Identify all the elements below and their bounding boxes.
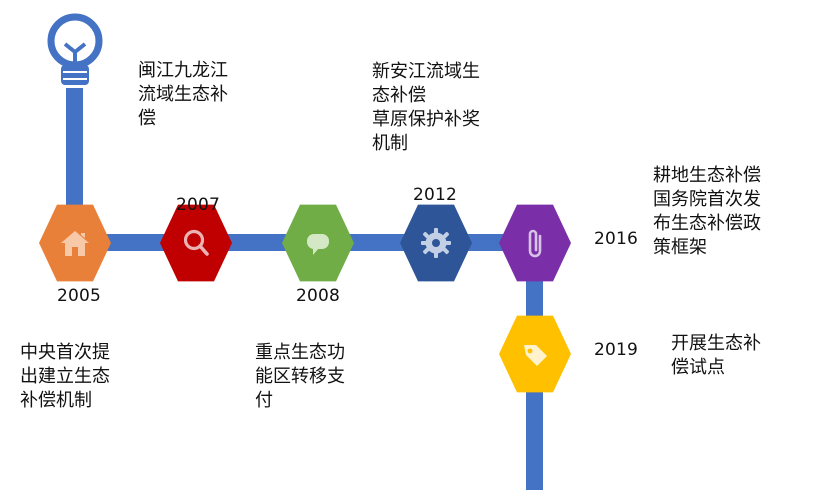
timeline-node-2019[interactable] [499,314,571,394]
timeline-node-2005[interactable] [39,203,111,283]
year-label-2012: 2012 [413,185,457,205]
caption-2007: 闽江九龙江 流域生态补 偿 [138,59,268,131]
timeline-infographic: 2005 中央首次提 出建立生态 补偿机制 2007 闽江九龙江 流域生态补 偿… [0,0,813,490]
year-label-2005: 2005 [57,286,101,306]
caption-2019: 开展生态补 偿试点 [671,332,811,380]
chat-bubble-icon [302,227,334,259]
lightbulb-icon [44,8,106,94]
timeline-node-2012[interactable] [400,203,472,283]
year-label-2007: 2007 [176,195,220,215]
tag-icon [519,338,551,370]
caption-2008: 重点生态功 能区转移支 付 [255,341,385,413]
year-label-2019: 2019 [594,340,638,360]
caption-2012: 新安江流域生 态补偿 草原保护补奖 机制 [372,60,532,156]
timeline-node-2007[interactable] [160,203,232,283]
timeline-node-2008[interactable] [282,203,354,283]
home-icon [59,227,91,259]
paperclip-icon [519,227,551,259]
timeline-node-2016[interactable] [499,203,571,283]
caption-2005: 中央首次提 出建立生态 补偿机制 [20,341,150,413]
year-label-2008: 2008 [296,286,340,306]
year-label-2016: 2016 [594,229,638,249]
caption-2016: 耕地生态补偿 国务院首次发 布生态补偿政 策框架 [653,164,813,260]
gear-icon [420,227,452,259]
search-icon [180,227,212,259]
